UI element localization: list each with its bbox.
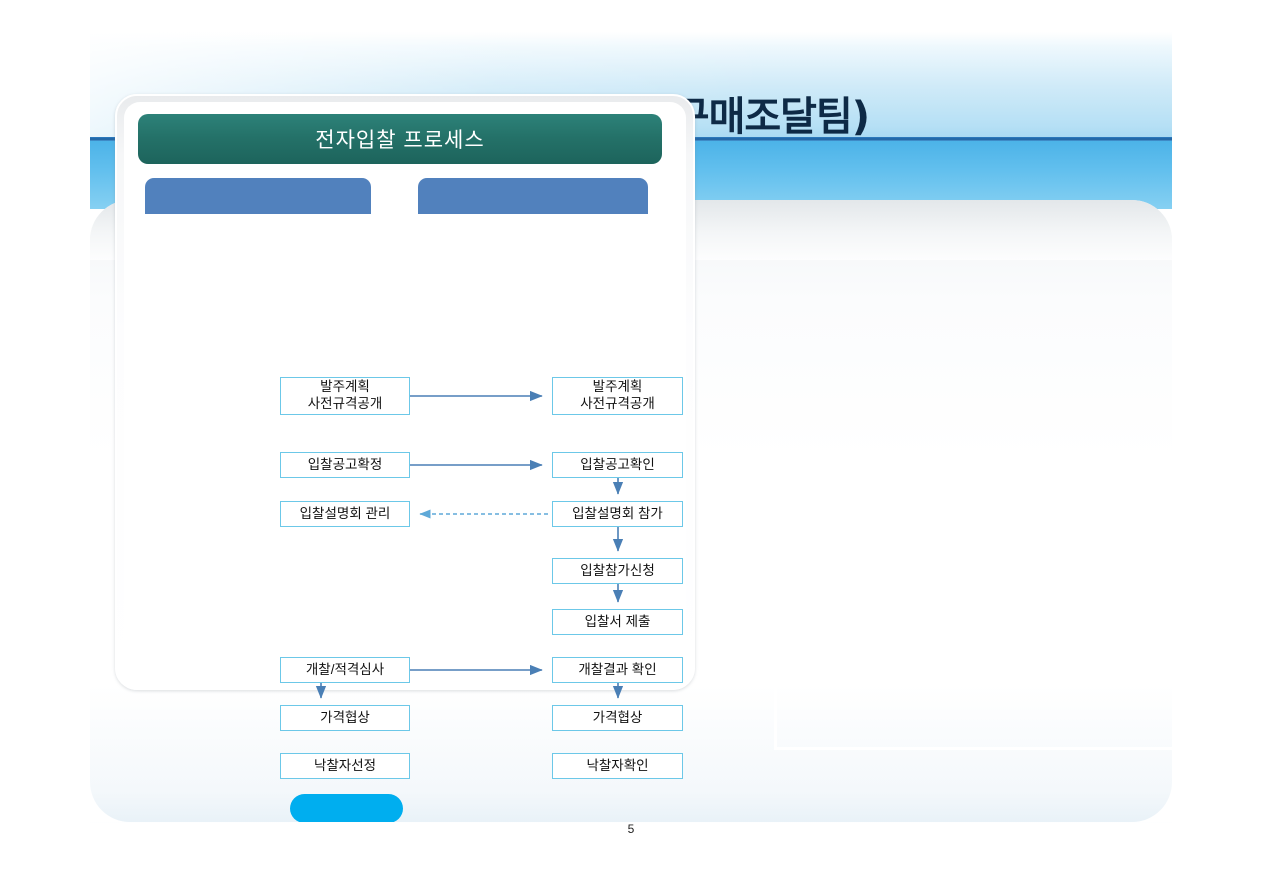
- flow-node-r2[interactable]: 입찰공고확인: [552, 452, 683, 478]
- flow-node-r5[interactable]: 입찰서 제출: [552, 609, 683, 635]
- flow-node-r4[interactable]: 입찰참가신청: [552, 558, 683, 584]
- flow-node-r1[interactable]: 발주계획 사전규격공개: [552, 377, 683, 415]
- flow-node-r3[interactable]: 입찰설명회 참가: [552, 501, 683, 527]
- flow-node-l3[interactable]: 입찰설명회 관리: [280, 501, 410, 527]
- flow-node-l2[interactable]: 입찰공고확정: [280, 452, 410, 478]
- flow-node-l8[interactable]: 낙찰자선정: [280, 753, 410, 779]
- page-number: 5: [0, 822, 1262, 836]
- flow-node-l7[interactable]: 가격협상: [280, 705, 410, 731]
- flow-node-l1[interactable]: 발주계획 사전규격공개: [280, 377, 410, 415]
- flow-node-r7[interactable]: 가격협상: [552, 705, 683, 731]
- flow-end-pill[interactable]: [290, 794, 403, 822]
- presentation-slide: 최신 계약방법 및 계약절차 (구매조달팀) 전자입찰 프로세스: [90, 32, 1172, 822]
- flow-node-r6[interactable]: 개찰결과 확인: [552, 657, 683, 683]
- flow-node-l6[interactable]: 개찰/적격심사: [280, 657, 410, 683]
- slide-canvas: 최신 계약방법 및 계약절차 (구매조달팀) 전자입찰 프로세스: [0, 0, 1262, 893]
- flow-node-r8[interactable]: 낙찰자확인: [552, 753, 683, 779]
- right-placeholder-box: [774, 682, 1172, 750]
